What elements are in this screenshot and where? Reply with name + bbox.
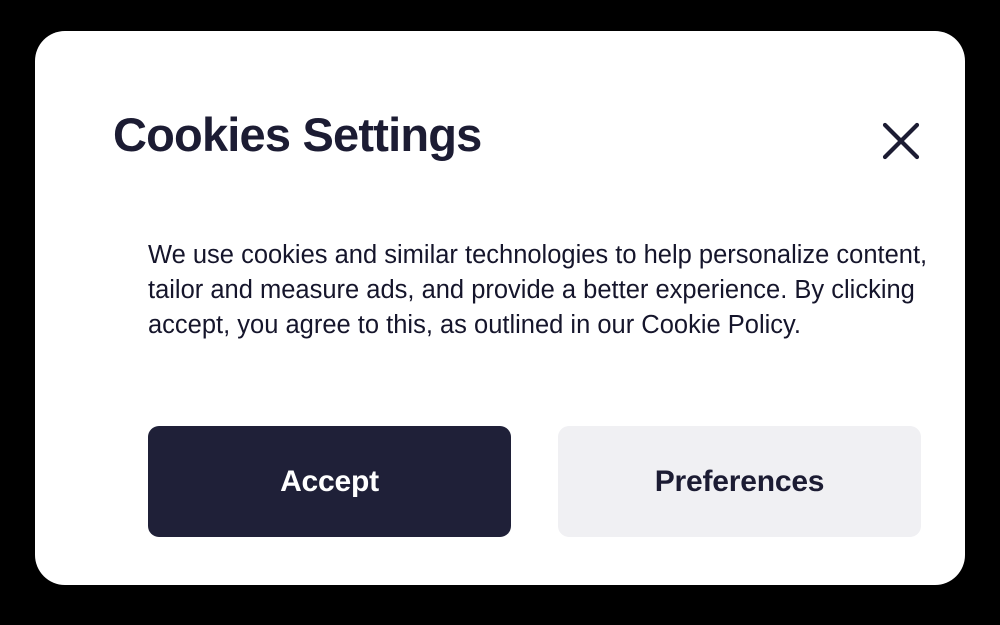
dialog-header: Cookies Settings — [113, 107, 923, 187]
screen-background: Cookies Settings We use cookies and simi… — [0, 0, 1000, 625]
close-icon — [882, 122, 920, 160]
accept-button[interactable]: Accept — [148, 426, 511, 537]
dialog-action-row: Accept Preferences — [148, 426, 921, 537]
close-button[interactable] — [879, 119, 923, 163]
dialog-body-text: We use cookies and similar technologies … — [148, 238, 938, 343]
dialog-title: Cookies Settings — [113, 107, 482, 163]
preferences-button[interactable]: Preferences — [558, 426, 921, 537]
cookie-settings-dialog: Cookies Settings We use cookies and simi… — [35, 31, 965, 585]
